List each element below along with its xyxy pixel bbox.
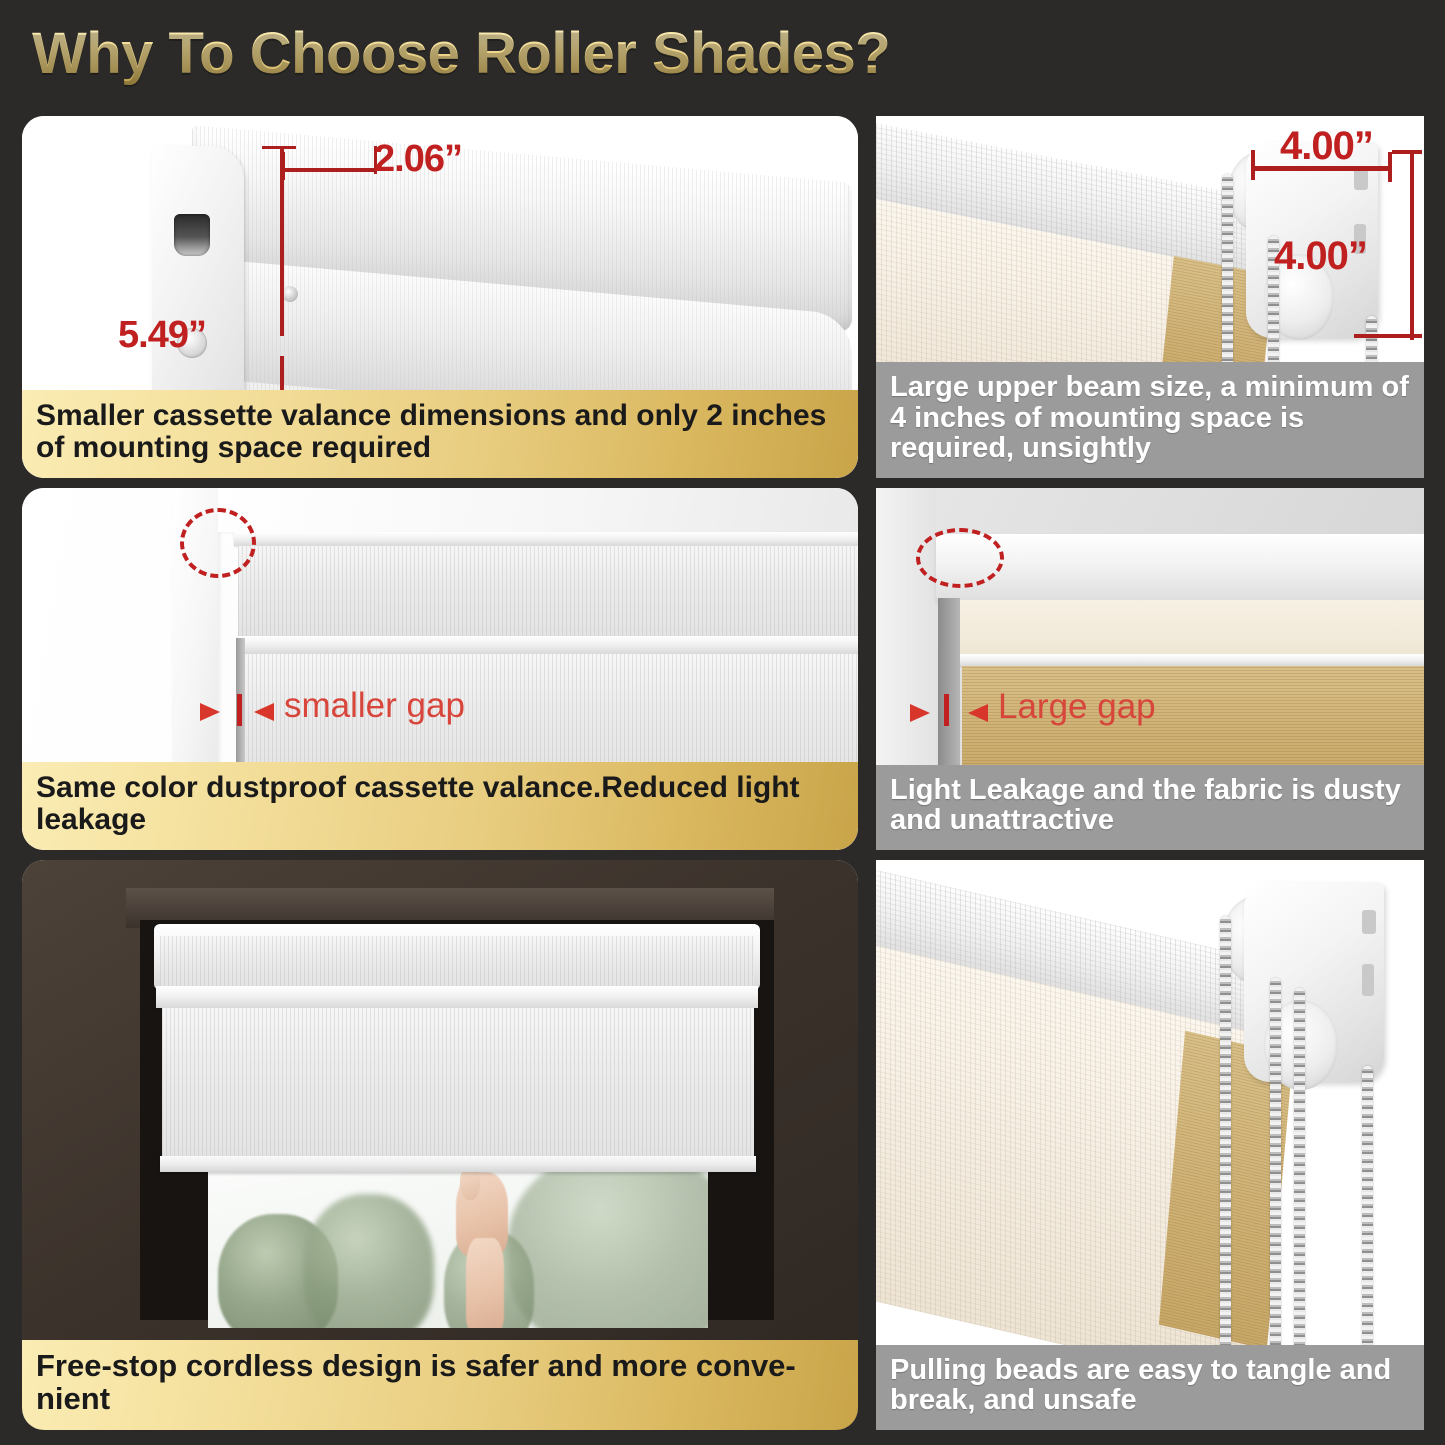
bead-chain-4 — [1362, 1066, 1373, 1356]
valance-top-rail — [234, 532, 858, 546]
bead-chain-2 — [1270, 978, 1281, 1358]
tree-3 — [508, 1160, 708, 1328]
dim2-h-tick-left — [1251, 150, 1255, 180]
panel-cordless-design: Free-stop cordless design is safer and m… — [22, 860, 858, 1430]
valance-lip — [156, 986, 758, 1008]
dim-v-tick-top — [262, 146, 296, 149]
valance-face — [238, 546, 858, 638]
cream-fabric-strip — [954, 600, 1424, 656]
highlight-circle-icon — [180, 508, 256, 578]
forearm — [466, 1238, 504, 1328]
panel-smaller-cassette: 2.06” 5.49” Smaller cassette valance dim… — [22, 116, 858, 478]
panel-2-caption: Large upper beam size, a minimum of 4 in… — [876, 362, 1424, 478]
valance-end-cap — [152, 146, 244, 396]
panel-6-caption: Pulling beads are easy to tangle and bre… — [876, 1345, 1424, 1430]
bead-chain-1 — [1220, 916, 1231, 1356]
valance-slot — [174, 214, 210, 256]
gap-arrow-right-icon — [968, 704, 988, 722]
dim-v-line — [280, 146, 284, 336]
upper-beam — [936, 534, 1424, 606]
gap-arrow-right-icon — [254, 703, 274, 721]
gap-arrow-left-icon — [910, 704, 930, 722]
bracket-notch-top — [1362, 910, 1376, 934]
window-casing-top — [218, 488, 858, 532]
wall-left — [876, 488, 936, 788]
dimension-label-width: 2.06” — [374, 138, 462, 181]
bead-chain-3 — [1294, 988, 1305, 1356]
dimension-label-beam-width: 4.00” — [1280, 124, 1373, 169]
valance-face — [160, 936, 754, 988]
panel-1-caption: Smaller cassette valance dimensions and … — [22, 390, 858, 478]
panel-3-caption: Same color dustproof cassette valance.Re… — [22, 762, 858, 850]
comparison-grid: 2.06” 5.49” Smaller cassette valance dim… — [0, 108, 1445, 1438]
gap-tick-icon — [944, 694, 949, 726]
large-gap-label: Large gap — [998, 687, 1156, 727]
highlight-circle-icon — [916, 528, 1004, 588]
dimension-label-beam-depth: 4.00” — [1274, 234, 1367, 279]
panel-4-caption: Light Leakage and the fabric is dusty an… — [876, 765, 1424, 850]
shade-bottom-rail — [160, 1156, 756, 1172]
valance-bottom-lip — [238, 636, 858, 654]
panel-5-caption: Free-stop cordless design is safer and m… — [22, 1340, 858, 1430]
bracket-notch-bottom — [1362, 964, 1374, 996]
dim2-v-tick-bottom — [1354, 334, 1422, 338]
bracket-notch-top — [1354, 168, 1368, 190]
gap-arrow-left-icon — [200, 703, 220, 721]
dim2-v-line — [1410, 150, 1414, 340]
brand-logo — [426, 1152, 428, 1159]
dim-h-line — [282, 168, 377, 172]
dimension-label-height: 5.49” — [118, 314, 206, 357]
dim2-h-tick-right — [1388, 152, 1392, 182]
smaller-gap-label: smaller gap — [284, 686, 465, 726]
tree-2 — [304, 1194, 434, 1328]
window-glass — [208, 1160, 708, 1328]
gap-tick-icon — [237, 694, 242, 726]
beam-lower-rail — [954, 654, 1424, 666]
panel-dustproof-valance: smaller gap Same color dustproof cassett… — [22, 488, 858, 850]
large-gap-bar — [938, 598, 960, 788]
valance-screw-small — [282, 286, 298, 302]
dim2-v-tick-top — [1392, 150, 1422, 154]
panel-pulling-beads: Pulling beads are easy to tangle and bre… — [876, 860, 1424, 1430]
shade-fabric — [162, 1008, 754, 1164]
page-title: Why To Choose Roller Shades? — [32, 20, 890, 87]
panel-large-upper-beam: 4.00” 4.00” Large upper beam size, a min… — [876, 116, 1424, 478]
panel-light-leakage: Large gap Light Leakage and the fabric i… — [876, 488, 1424, 850]
